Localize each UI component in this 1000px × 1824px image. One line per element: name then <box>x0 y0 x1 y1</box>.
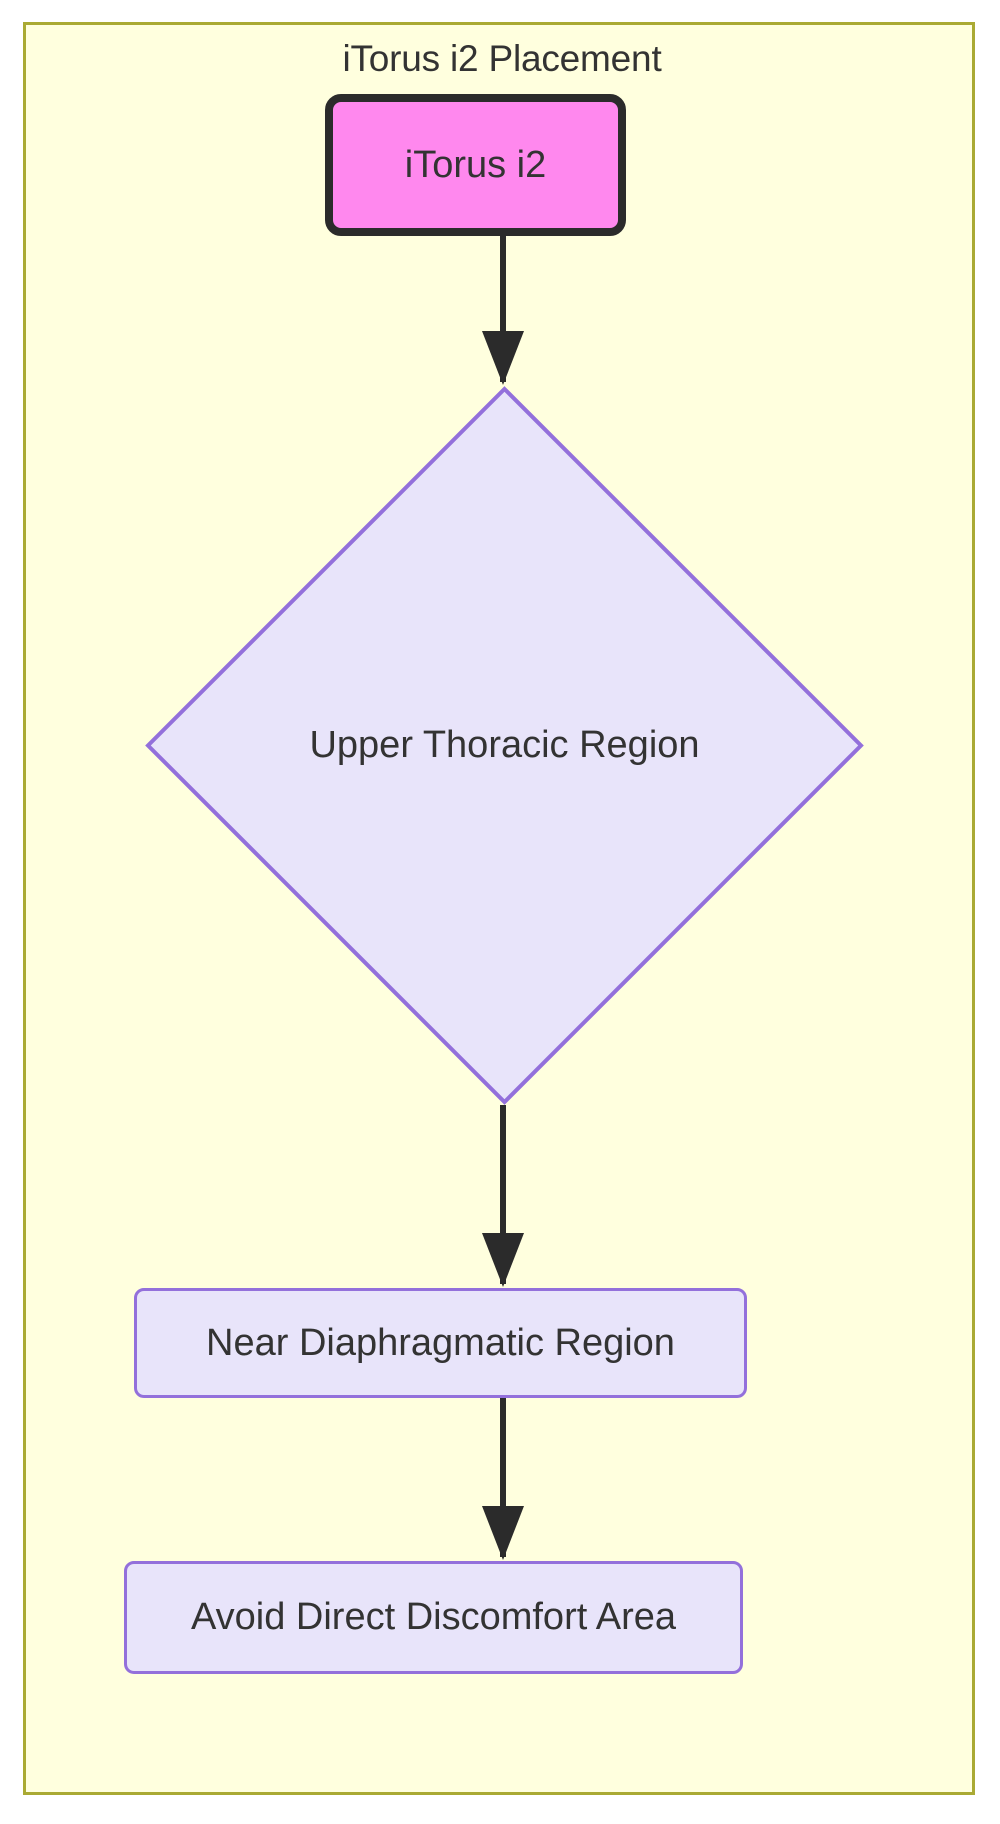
node-itorus-i2[interactable]: iTorus i2 <box>325 94 626 236</box>
diagram-frame: iTorus i2 Placement iTorus i2 Upper Thor… <box>23 22 975 1795</box>
node-near-diaphragmatic-region-label: Near Diaphragmatic Region <box>206 1322 675 1365</box>
diagram-title: iTorus i2 Placement <box>26 38 978 80</box>
node-upper-thoracic-region-label: Upper Thoracic Region <box>145 386 864 1105</box>
node-upper-thoracic-region[interactable]: Upper Thoracic Region <box>145 386 864 1105</box>
node-avoid-direct-discomfort-area-label: Avoid Direct Discomfort Area <box>191 1596 676 1639</box>
node-itorus-i2-label: iTorus i2 <box>405 144 547 187</box>
node-near-diaphragmatic-region[interactable]: Near Diaphragmatic Region <box>134 1288 747 1398</box>
node-avoid-direct-discomfort-area[interactable]: Avoid Direct Discomfort Area <box>124 1561 743 1674</box>
